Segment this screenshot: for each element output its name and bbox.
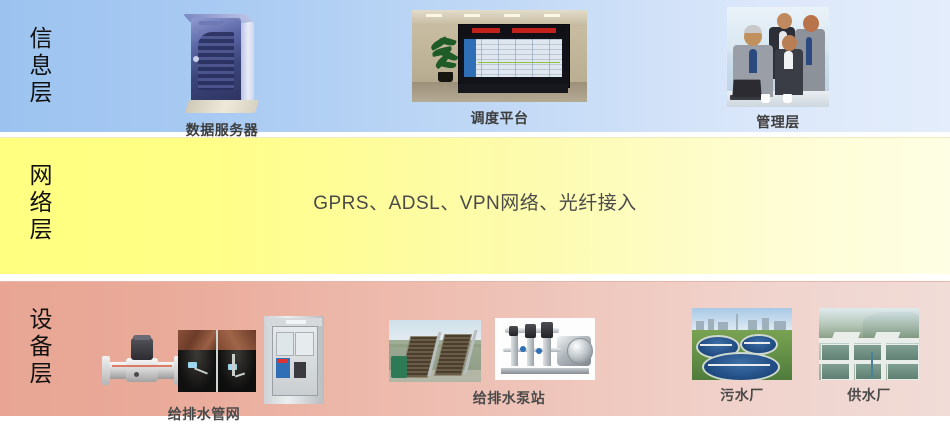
- manhole-pipe-icon: [178, 330, 256, 392]
- layer-title-char: 网: [20, 163, 62, 190]
- layer-title-char: 设: [20, 307, 62, 334]
- architecture-diagram: 信 息 层 数据服务器: [0, 0, 950, 415]
- layer-title-char: 层: [20, 217, 62, 244]
- item-water-pipe-network[interactable]: 给排水管网: [100, 316, 318, 424]
- layer-title-char: 息: [20, 53, 62, 80]
- management-meeting-icon: [727, 7, 829, 107]
- item-dispatch-platform[interactable]: 调度平台: [412, 10, 587, 128]
- layer-title-char: 层: [20, 361, 62, 388]
- layer-title-device: 设 备 层: [20, 307, 62, 388]
- layer-title-char: 信: [20, 26, 62, 53]
- item-caption: 调度平台: [412, 108, 587, 128]
- layer-title-information: 信 息 层: [20, 26, 62, 107]
- item-data-server[interactable]: 数据服务器: [172, 12, 272, 140]
- control-room-icon: [412, 10, 587, 102]
- bar-screen-icon: [389, 320, 481, 382]
- item-caption: 供水厂: [819, 385, 919, 405]
- layer-title-char: 备: [20, 334, 62, 361]
- network-technologies-text: GPRS、ADSL、VPN网络、光纤接入: [0, 188, 950, 215]
- item-wastewater-plant[interactable]: 污水厂: [692, 308, 792, 405]
- item-caption: 管理层: [727, 112, 829, 132]
- water-supply-plant-icon: [819, 308, 919, 380]
- flow-meter-icon: [100, 334, 184, 396]
- item-water-pump-station[interactable]: 给排水泵站: [389, 312, 629, 408]
- pump-set-icon: [495, 318, 595, 380]
- layer-title-char: 层: [20, 80, 62, 107]
- server-tower-icon: [183, 12, 261, 117]
- item-water-supply-plant[interactable]: 供水厂: [819, 308, 919, 405]
- wastewater-plant-icon: [692, 308, 792, 380]
- item-caption: 给排水泵站: [389, 388, 629, 408]
- item-management[interactable]: 管理层: [727, 7, 829, 132]
- item-caption: 给排水管网: [90, 404, 318, 424]
- item-caption: 污水厂: [692, 385, 792, 405]
- control-cabinet-icon: [264, 316, 324, 404]
